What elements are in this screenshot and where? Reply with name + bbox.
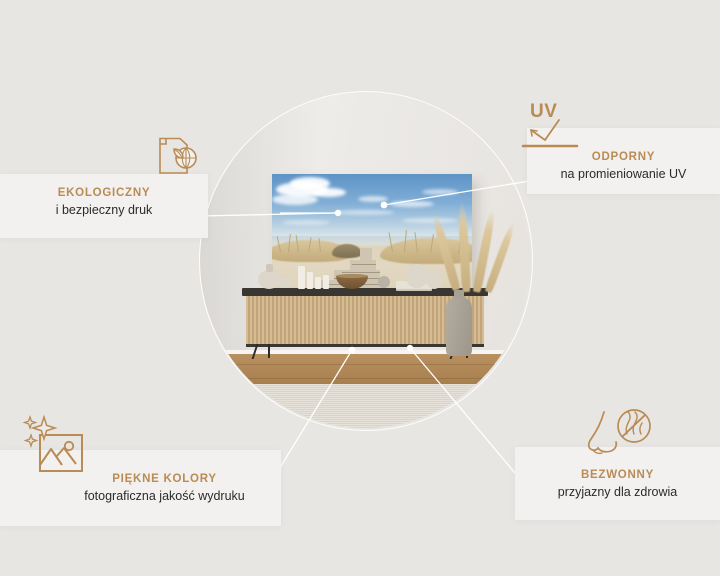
promo-infographic: OBRAZ NA PŁÓTNIE [0, 0, 720, 576]
room-photo [200, 92, 530, 428]
rug [200, 384, 506, 428]
feature-uv-sub: na promieniowanie UV [527, 166, 720, 184]
picture-sparkles-icon [20, 413, 90, 477]
page-title: OBRAZ NA PŁÓTNIE [0, 28, 720, 70]
feature-eco-sub: i bezpieczny druk [0, 202, 208, 220]
eco-document-globe-leaf-icon [150, 136, 202, 186]
feature-colors-sub: fotograficzna jakość wydruku [48, 488, 281, 506]
feature-odorless-kicker: BEZWONNY [515, 468, 720, 484]
feature-odorless-sub: przyjazny dla zdrowia [515, 484, 720, 502]
nose-no-smell-icon [582, 406, 654, 468]
feature-eco-kicker: EKOLOGICZNY [0, 186, 208, 202]
uv-ray-bounce-icon [519, 118, 585, 156]
